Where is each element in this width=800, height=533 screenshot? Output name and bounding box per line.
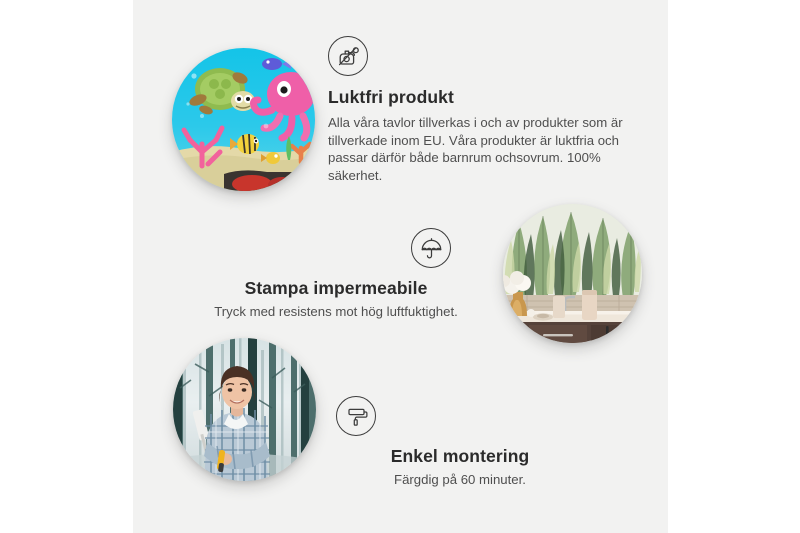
- photo-ocean: [172, 48, 315, 191]
- feature-waterproof: Stampa impermeabile Tryck med resistens …: [200, 228, 472, 321]
- feature-icon-wrap: [200, 228, 472, 268]
- umbrella-icon: [411, 228, 451, 268]
- product-feature-banner: Luktfri produkt Alla våra tavlor tillver…: [0, 0, 800, 533]
- feature-icon-wrap: [330, 396, 590, 436]
- photo-forest-mural: [173, 338, 316, 481]
- photo-bathroom: [503, 204, 642, 343]
- feature-mounting: Enkel montering Färgdig på 60 minuter.: [330, 396, 590, 489]
- feature-title: Enkel montering: [330, 446, 590, 467]
- feature-title: Stampa impermeabile: [200, 278, 472, 299]
- feature-body: Färgdig på 60 minuter.: [330, 471, 590, 489]
- feature-odourless: Luktfri produkt Alla våra tavlor tillver…: [328, 36, 628, 184]
- feature-body: Tryck med resistens mot hög luftfuktighe…: [200, 303, 472, 321]
- feature-body: Alla våra tavlor tillverkas i och av pro…: [328, 114, 628, 184]
- feature-title: Luktfri produkt: [328, 87, 628, 108]
- paint-roller-icon: [336, 396, 376, 436]
- no-spray-bottle-icon: [328, 36, 368, 76]
